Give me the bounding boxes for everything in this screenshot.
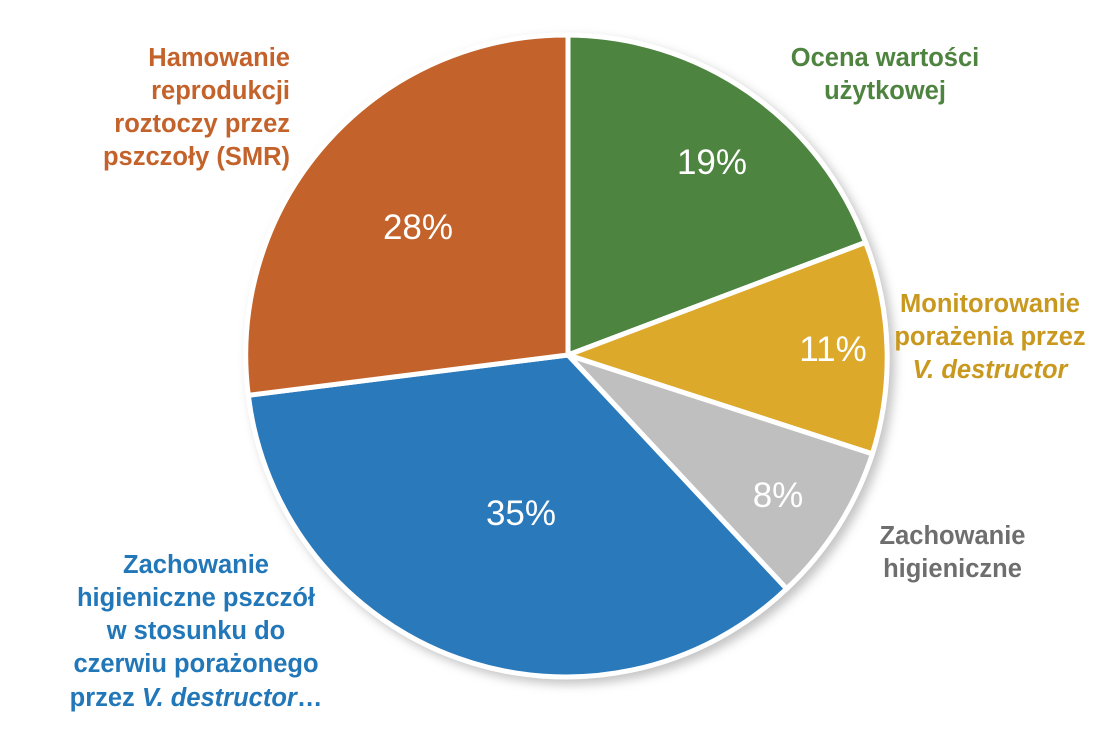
pie-value-label-zachowanie-higieniczne: 8% [753, 476, 804, 516]
label-line-species-wrap: przez V. destructor… [56, 682, 336, 715]
pie-value-label-smr: 28% [383, 208, 453, 248]
label-line-tail: … [297, 684, 323, 712]
pie-category-label-ocena: Ocena wartości użytkowej [760, 42, 1010, 108]
pie-slices-group [246, 35, 887, 677]
label-line: pszczoły (SMR) [40, 141, 290, 174]
pie-category-label-smr: Hamowanie reprodukcji roztoczy przez psz… [40, 42, 290, 175]
label-line: w stosunku do [56, 615, 336, 648]
label-line: Monitorowanie [890, 288, 1090, 321]
pie-value-label-monitorowanie: 11% [799, 330, 866, 370]
pie-chart: 19% 11% 8% 35% 28% Ocena wartości użytko… [0, 0, 1110, 737]
label-line: roztoczy przez [40, 108, 290, 141]
pie-category-label-zachowanie-higieniczne-czerwiu: Zachowanie higieniczne pszczół w stosunk… [56, 549, 336, 715]
label-line: Ocena wartości [760, 42, 1010, 75]
label-line: higieniczne pszczół [56, 582, 336, 615]
label-line-species: V. destructor [142, 684, 297, 712]
pie-value-label-zachowanie-higieniczne-czerwiu: 35% [486, 494, 556, 534]
label-line-prefix: przez [70, 684, 142, 712]
pie-value-label-ocena: 19% [677, 143, 747, 183]
label-line-species: V. destructor [890, 354, 1090, 387]
label-line: użytkowej [760, 75, 1010, 108]
label-line: porażenia przez [890, 321, 1090, 354]
label-line: higieniczne [855, 553, 1050, 586]
label-line: czerwiu porażonego [56, 648, 336, 681]
pie-category-label-zachowanie-higieniczne: Zachowanie higieniczne [855, 520, 1050, 586]
pie-category-label-monitorowanie: Monitorowanie porażenia przez V. destruc… [890, 288, 1090, 387]
label-line: reprodukcji [40, 75, 290, 108]
label-line: Zachowanie [56, 549, 336, 582]
label-line: Hamowanie [40, 42, 290, 75]
label-line: Zachowanie [855, 520, 1050, 553]
